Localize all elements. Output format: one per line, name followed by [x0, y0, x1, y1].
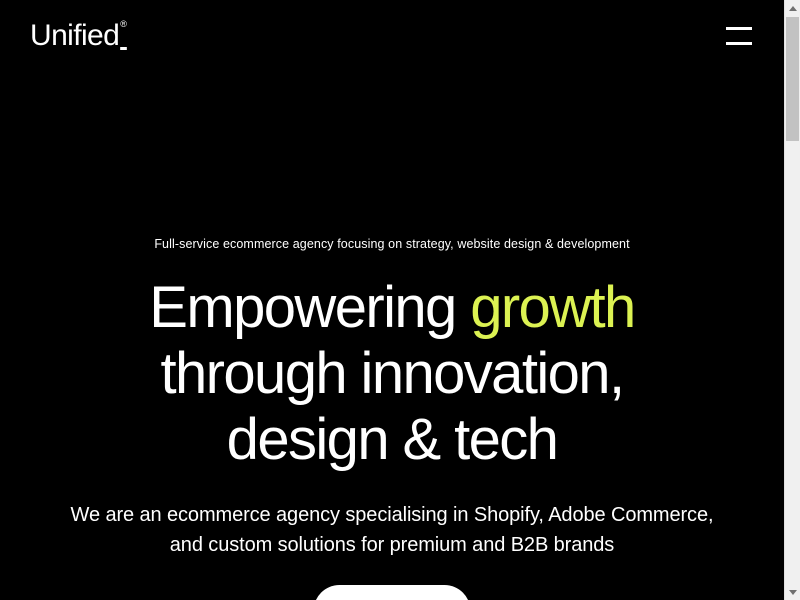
- browser-viewport: Unified® Full-service ecommerce agency f…: [0, 0, 800, 600]
- scroll-up-glyph: [789, 6, 797, 11]
- site-header: Unified®: [0, 0, 784, 72]
- headline-line-3: design & tech: [149, 407, 634, 473]
- scroll-down-glyph: [789, 590, 797, 595]
- site-logo[interactable]: Unified®: [30, 21, 126, 51]
- hero-body-line-1: We are an ecommerce agency specialising …: [71, 500, 714, 530]
- scrollbar-thumb[interactable]: [786, 17, 799, 141]
- registered-trademark-icon: ®: [120, 19, 127, 29]
- vertical-scrollbar[interactable]: [784, 0, 800, 600]
- hero-headline: Empowering growth through innovation, de…: [149, 275, 634, 473]
- menu-bar-bottom: [726, 42, 752, 45]
- headline-line-1-plain: Empowering: [149, 275, 470, 340]
- headline-line-1: Empowering growth: [149, 275, 634, 341]
- headline-line-2: through innovation,: [149, 341, 634, 407]
- logo-wordmark: Unified: [30, 21, 119, 51]
- headline-accent-word: growth: [470, 275, 635, 340]
- hero-eyebrow-text: Full-service ecommerce agency focusing o…: [154, 238, 629, 251]
- get-in-touch-button[interactable]: Get in touch: [314, 585, 471, 600]
- hero-body-text: We are an ecommerce agency specialising …: [71, 500, 714, 560]
- scroll-down-arrow-icon[interactable]: [785, 584, 800, 600]
- hamburger-menu-icon[interactable]: [726, 27, 752, 45]
- hero-body-line-2: and custom solutions for premium and B2B…: [71, 530, 714, 560]
- scroll-up-arrow-icon[interactable]: [785, 0, 800, 16]
- hero-section: Full-service ecommerce agency focusing o…: [0, 0, 784, 600]
- menu-bar-top: [726, 27, 752, 30]
- page-content: Unified® Full-service ecommerce agency f…: [0, 0, 784, 600]
